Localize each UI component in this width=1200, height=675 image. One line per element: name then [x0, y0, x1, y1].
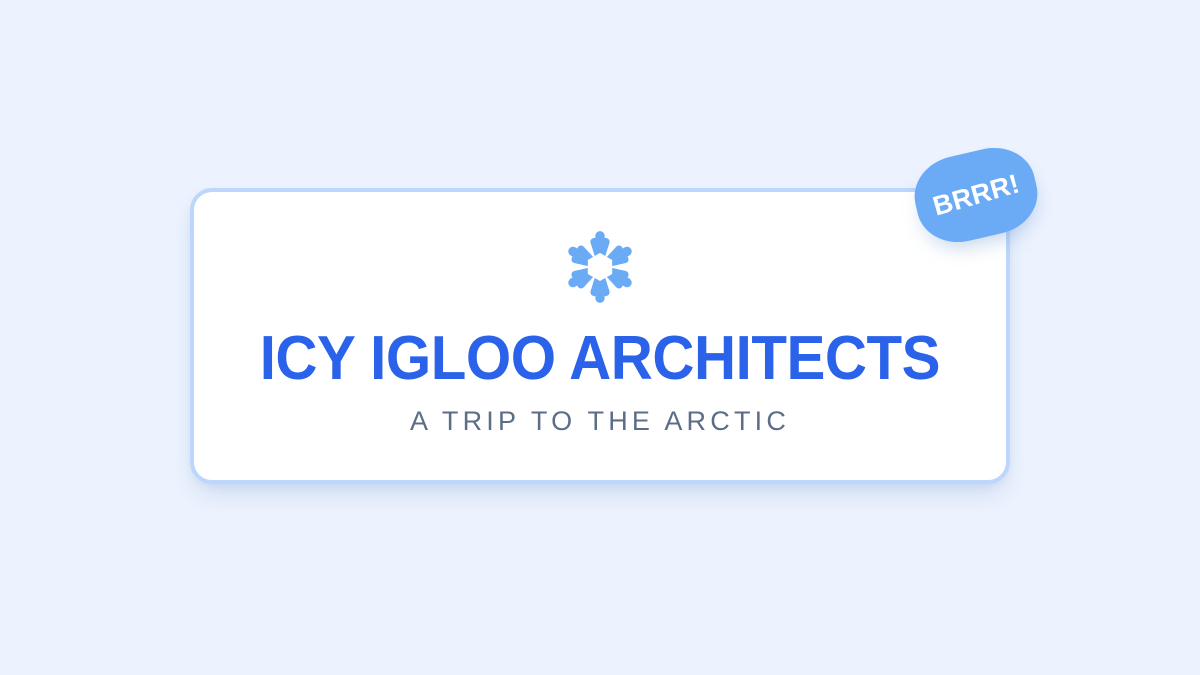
title-card: ICY IGLOO ARCHITECTS A TRIP TO THE ARCTI…: [190, 188, 1010, 484]
page-title: ICY IGLOO ARCHITECTS: [260, 328, 940, 390]
brrr-badge-label: BRRR!: [929, 168, 1023, 222]
page-subtitle: A TRIP TO THE ARCTIC: [410, 406, 790, 437]
slide-canvas: ICY IGLOO ARCHITECTS A TRIP TO THE ARCTI…: [0, 0, 1200, 675]
title-card-content: ICY IGLOO ARCHITECTS A TRIP TO THE ARCTI…: [194, 228, 1006, 437]
snowflake-icon: [561, 228, 639, 306]
